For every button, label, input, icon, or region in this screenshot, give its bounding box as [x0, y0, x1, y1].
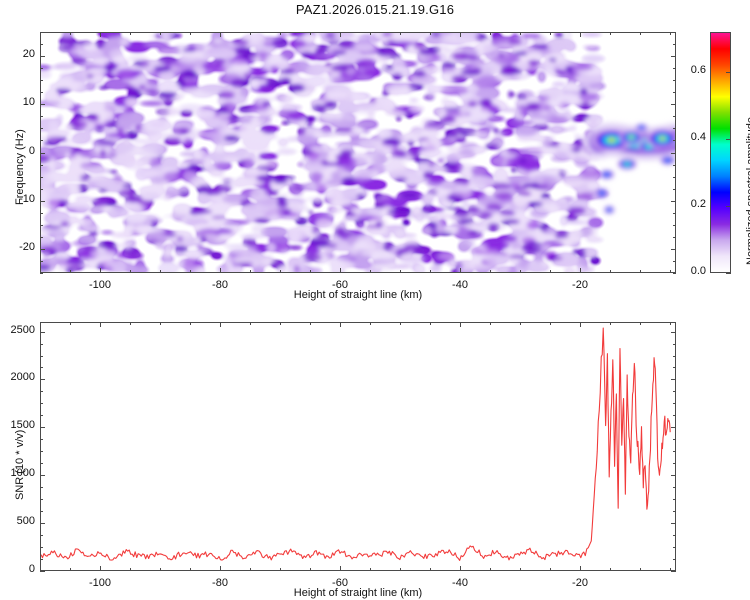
axis-tick — [40, 451, 43, 452]
axis-tick — [673, 499, 676, 500]
colorbar-tick-label: 0.4 — [680, 131, 706, 143]
axis-tick — [40, 273, 43, 274]
axis-tick — [673, 547, 676, 548]
axis-tick — [670, 270, 671, 273]
axis-tick — [40, 56, 45, 57]
axis-tick — [190, 32, 191, 35]
axis-tick — [250, 270, 251, 273]
axis-tick — [130, 270, 131, 273]
snr-plot[interactable] — [40, 322, 676, 571]
axis-tick — [340, 32, 341, 37]
axis-tick — [40, 153, 45, 154]
axis-tick — [40, 225, 43, 226]
axis-tick — [673, 559, 676, 560]
axis-tick — [671, 201, 676, 202]
axis-tick — [490, 270, 491, 273]
axis-tick — [280, 322, 281, 325]
axis-tick — [70, 322, 71, 325]
axis-tick — [671, 153, 676, 154]
axis-tick — [40, 201, 45, 202]
axis-tick — [40, 189, 43, 190]
axis-tick — [190, 270, 191, 273]
colorbar-tick-label: 0.2 — [680, 198, 706, 210]
axis-tick — [580, 32, 581, 37]
axis-tick — [671, 523, 676, 524]
axis-tick — [160, 270, 161, 273]
axis-tick — [726, 139, 731, 140]
axis-tick — [673, 487, 676, 488]
axis-tick — [610, 322, 611, 325]
axis-tick — [40, 140, 43, 141]
axis-tick — [673, 128, 676, 129]
axis-tick — [40, 511, 43, 512]
axis-tick — [673, 32, 676, 33]
axis-tick — [673, 225, 676, 226]
axis-tick — [40, 535, 43, 536]
spectrogram-x-axis-title: Height of straight line (km) — [40, 289, 676, 301]
axis-tick — [673, 116, 676, 117]
axis-tick — [673, 177, 676, 178]
axis-tick — [400, 32, 401, 35]
axis-tick — [520, 322, 521, 325]
axis-tick — [40, 92, 43, 93]
y-tick-label: 10 — [1, 96, 35, 108]
axis-tick — [40, 356, 43, 357]
axis-tick — [40, 344, 43, 345]
y-tick-label: 500 — [1, 515, 35, 527]
axis-tick — [671, 427, 676, 428]
axis-tick — [40, 415, 43, 416]
axis-tick — [310, 270, 311, 273]
axis-tick — [40, 80, 43, 81]
axis-tick — [673, 80, 676, 81]
y-tick-label: 2000 — [1, 371, 35, 383]
axis-tick — [40, 249, 45, 250]
axis-tick — [640, 270, 641, 273]
axis-tick — [340, 566, 341, 571]
axis-tick — [100, 268, 101, 273]
axis-tick — [400, 270, 401, 273]
axis-tick — [340, 322, 341, 327]
axis-tick — [40, 261, 43, 262]
axis-tick — [310, 568, 311, 571]
axis-tick — [490, 568, 491, 571]
axis-tick — [40, 177, 43, 178]
axis-tick — [160, 322, 161, 325]
axis-tick — [130, 568, 131, 571]
axis-tick — [580, 322, 581, 327]
axis-tick — [130, 322, 131, 325]
axis-tick — [580, 566, 581, 571]
axis-tick — [130, 32, 131, 35]
axis-tick — [310, 32, 311, 35]
axis-tick — [40, 499, 43, 500]
axis-tick — [610, 568, 611, 571]
axis-tick — [220, 32, 221, 37]
axis-tick — [40, 104, 45, 105]
axis-tick — [460, 268, 461, 273]
axis-tick — [671, 379, 676, 380]
axis-tick — [490, 322, 491, 325]
colorbar[interactable] — [710, 32, 731, 273]
axis-tick — [673, 273, 676, 274]
axis-tick — [673, 535, 676, 536]
axis-tick — [671, 104, 676, 105]
axis-tick — [673, 439, 676, 440]
axis-tick — [70, 568, 71, 571]
axis-tick — [671, 249, 676, 250]
axis-tick — [40, 213, 43, 214]
axis-tick — [250, 568, 251, 571]
axis-tick — [40, 379, 45, 380]
axis-tick — [220, 322, 221, 327]
axis-tick — [673, 261, 676, 262]
axis-tick — [726, 273, 731, 274]
axis-tick — [40, 116, 43, 117]
axis-tick — [671, 332, 676, 333]
axis-tick — [673, 140, 676, 141]
axis-tick — [400, 322, 401, 325]
axis-tick — [100, 566, 101, 571]
axis-tick — [671, 475, 676, 476]
axis-tick — [250, 32, 251, 35]
axis-tick — [673, 344, 676, 345]
axis-tick — [40, 547, 43, 548]
axis-tick — [280, 32, 281, 35]
axis-tick — [40, 523, 45, 524]
axis-tick — [550, 32, 551, 35]
axis-tick — [673, 213, 676, 214]
axis-tick — [160, 32, 161, 35]
axis-tick — [726, 72, 731, 73]
axis-tick — [40, 32, 43, 33]
snr-trace — [41, 323, 675, 570]
axis-tick — [280, 270, 281, 273]
axis-tick — [340, 268, 341, 273]
axis-tick — [640, 568, 641, 571]
axis-tick — [550, 322, 551, 325]
axis-tick — [40, 165, 43, 166]
axis-tick — [40, 322, 41, 325]
axis-tick — [550, 270, 551, 273]
axis-tick — [40, 559, 43, 560]
axis-tick — [726, 206, 731, 207]
axis-tick — [190, 322, 191, 325]
axis-tick — [670, 322, 671, 325]
axis-tick — [40, 463, 43, 464]
snr-x-axis-title: Height of straight line (km) — [40, 587, 676, 599]
axis-tick — [370, 568, 371, 571]
axis-tick — [673, 68, 676, 69]
axis-tick — [70, 32, 71, 35]
spectrogram-image — [41, 33, 675, 272]
y-tick-label: 0 — [1, 563, 35, 575]
axis-tick — [671, 56, 676, 57]
axis-tick — [40, 439, 43, 440]
axis-tick — [430, 270, 431, 273]
axis-tick — [220, 566, 221, 571]
axis-tick — [673, 44, 676, 45]
colorbar-tick-label: 0.6 — [680, 64, 706, 76]
spectrogram-plot[interactable] — [40, 32, 676, 273]
axis-tick — [640, 322, 641, 325]
axis-tick — [550, 568, 551, 571]
axis-tick — [310, 322, 311, 325]
snr-line — [41, 328, 670, 560]
axis-tick — [673, 237, 676, 238]
axis-tick — [40, 237, 43, 238]
axis-tick — [640, 32, 641, 35]
axis-tick — [40, 391, 43, 392]
axis-tick — [460, 566, 461, 571]
axis-tick — [40, 332, 45, 333]
axis-tick — [370, 32, 371, 35]
axis-tick — [40, 571, 45, 572]
axis-tick — [673, 165, 676, 166]
axis-tick — [100, 32, 101, 37]
axis-tick — [673, 463, 676, 464]
axis-tick — [160, 568, 161, 571]
axis-tick — [673, 415, 676, 416]
snr-y-axis-title: SNR (10 * v/v) — [14, 430, 26, 500]
axis-tick — [40, 68, 43, 69]
axis-tick — [40, 367, 43, 368]
axis-tick — [430, 32, 431, 35]
axis-tick — [520, 568, 521, 571]
axis-tick — [460, 322, 461, 327]
colorbar-gradient — [711, 33, 730, 272]
axis-tick — [673, 403, 676, 404]
figure-title: PAZ1.2026.015.21.19.G16 — [0, 2, 750, 17]
axis-tick — [430, 322, 431, 325]
axis-tick — [673, 391, 676, 392]
colorbar-tick-label: 0.0 — [680, 265, 706, 277]
axis-tick — [400, 568, 401, 571]
axis-tick — [610, 32, 611, 35]
axis-tick — [190, 568, 191, 571]
axis-tick — [40, 128, 43, 129]
axis-tick — [100, 322, 101, 327]
spectrogram-y-axis-title: Frequency (Hz) — [14, 129, 26, 205]
y-tick-label: 20 — [1, 48, 35, 60]
axis-tick — [280, 568, 281, 571]
axis-tick — [40, 403, 43, 404]
axis-tick — [520, 32, 521, 35]
axis-tick — [670, 32, 671, 35]
axis-tick — [673, 356, 676, 357]
axis-tick — [673, 511, 676, 512]
axis-tick — [250, 322, 251, 325]
colorbar-title: Normalized spectral amplitude — [745, 117, 750, 265]
y-tick-label: 2500 — [1, 324, 35, 336]
axis-tick — [220, 268, 221, 273]
axis-tick — [610, 270, 611, 273]
axis-tick — [673, 92, 676, 93]
figure-canvas: PAZ1.2026.015.21.19.G16 -100-80-60-40-20… — [0, 0, 750, 600]
axis-tick — [40, 487, 43, 488]
axis-tick — [40, 427, 45, 428]
axis-tick — [370, 322, 371, 325]
axis-tick — [40, 475, 45, 476]
axis-tick — [490, 32, 491, 35]
axis-tick — [673, 189, 676, 190]
axis-tick — [671, 571, 676, 572]
axis-tick — [70, 270, 71, 273]
axis-tick — [430, 568, 431, 571]
axis-tick — [40, 44, 43, 45]
axis-tick — [580, 268, 581, 273]
axis-tick — [370, 270, 371, 273]
axis-tick — [673, 451, 676, 452]
axis-tick — [460, 32, 461, 37]
axis-tick — [673, 367, 676, 368]
axis-tick — [520, 270, 521, 273]
y-tick-label: -20 — [1, 241, 35, 253]
